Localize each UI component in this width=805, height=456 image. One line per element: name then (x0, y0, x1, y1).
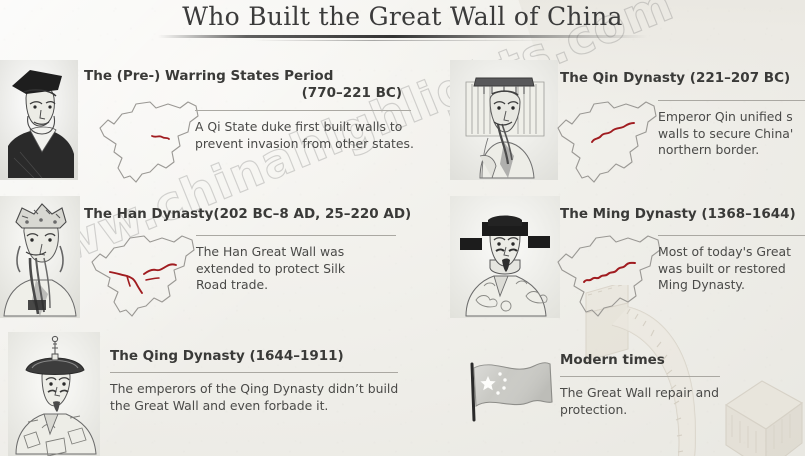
infographic-page: www.chinahighlights.com Who Built the Gr… (0, 0, 805, 456)
china-map-ming (550, 222, 674, 322)
entry-body-text: A Qi State duke first built walls to pre… (195, 119, 417, 152)
entry-heading: The (Pre-) Warring States Period (84, 68, 424, 85)
entry-heading-block: The (Pre-) Warring States Period (770–22… (84, 68, 424, 102)
entry-heading: The Ming Dynasty (1368–1644) (560, 206, 805, 223)
entry-heading-block: The Qin Dynasty (221–207 BC) (560, 70, 805, 87)
entry-heading: The Qing Dynasty (1644–1911) (110, 348, 430, 365)
han-emperor-portrait (0, 196, 80, 318)
china-flag-icon (460, 354, 556, 430)
entry-divider (110, 372, 398, 373)
entry-body-text: Most of today's Great was built or resto… (658, 244, 805, 294)
china-map-qin (550, 90, 668, 186)
title-block: Who Built the Great Wall of China (0, 2, 805, 41)
entry-heading-block: The Qing Dynasty (1644–1911) (110, 348, 430, 365)
china-map-han (84, 222, 208, 322)
entry-body-text: The Great Wall repair and protection. (560, 385, 730, 418)
entry-heading: The Qin Dynasty (221–207 BC) (560, 70, 805, 87)
qin-emperor-portrait (450, 60, 558, 180)
page-title: Who Built the Great Wall of China (0, 2, 805, 32)
entry-divider (560, 376, 720, 377)
entry-heading-block: The Ming Dynasty (1368–1644) (560, 206, 805, 223)
ming-emperor-portrait (450, 196, 560, 318)
entry-body-text: The Han Great Wall was extended to prote… (196, 244, 376, 294)
qing-emperor-portrait (8, 332, 100, 456)
title-rule (158, 35, 648, 38)
entry-body-text: Emperor Qin unified s walls to secure Ch… (658, 109, 805, 159)
entry-heading-block: Modern times (560, 352, 760, 369)
entry-heading: Modern times (560, 352, 760, 369)
entry-heading: The Han Dynasty(202 BC–8 AD, 25–220 AD) (84, 206, 484, 223)
entry-body-text: The emperors of the Qing Dynasty didn’t … (110, 381, 410, 414)
warring-states-duke-portrait (0, 60, 78, 180)
entry-divider (658, 235, 805, 236)
title-rule-secondary (253, 40, 553, 41)
entry-divider (658, 100, 805, 101)
entry-heading-block: The Han Dynasty(202 BC–8 AD, 25–220 AD) (84, 206, 484, 223)
china-map-warring-states (92, 90, 210, 186)
entry-heading-date: (770–221 BC) (84, 85, 402, 102)
entry-divider (196, 235, 396, 236)
entry-divider (195, 110, 411, 111)
